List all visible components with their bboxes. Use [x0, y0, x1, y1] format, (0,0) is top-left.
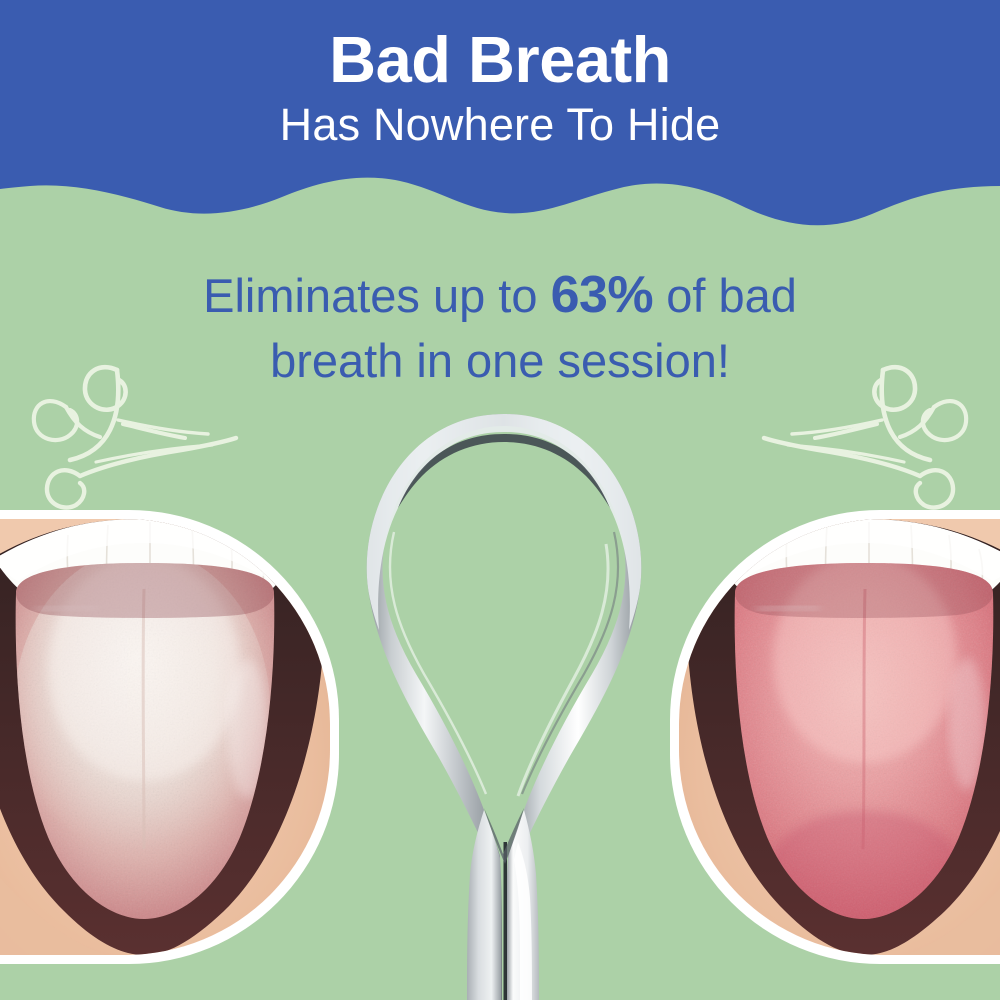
header-banner [0, 0, 1000, 240]
scraper-loop-right [504, 414, 641, 882]
claim-suffix: of bad [653, 269, 797, 322]
scraper-contour-lines [390, 532, 618, 796]
tongue-scraper-product [358, 412, 648, 1000]
before-photo-panel [0, 510, 339, 964]
claim-percentage: 63% [551, 266, 654, 324]
scraper-edge-highlight [367, 414, 642, 630]
banner-wave-shape [0, 0, 1000, 240]
handle-center-seam [504, 842, 508, 1000]
claim-text: Eliminates up to 63% of bad breath in on… [90, 262, 910, 391]
before-photo [0, 519, 330, 955]
after-photo-panel [670, 510, 1000, 964]
claim-prefix: Eliminates up to [203, 269, 550, 322]
marketing-image: Bad Breath Has Nowhere To Hide Eliminate… [0, 0, 1000, 1000]
claim-line-two: breath in one session! [270, 334, 730, 387]
after-photo [679, 519, 1000, 955]
after-photo-clip [679, 519, 1000, 955]
scraper-loop-left [367, 414, 504, 882]
before-photo-clip [0, 519, 330, 955]
